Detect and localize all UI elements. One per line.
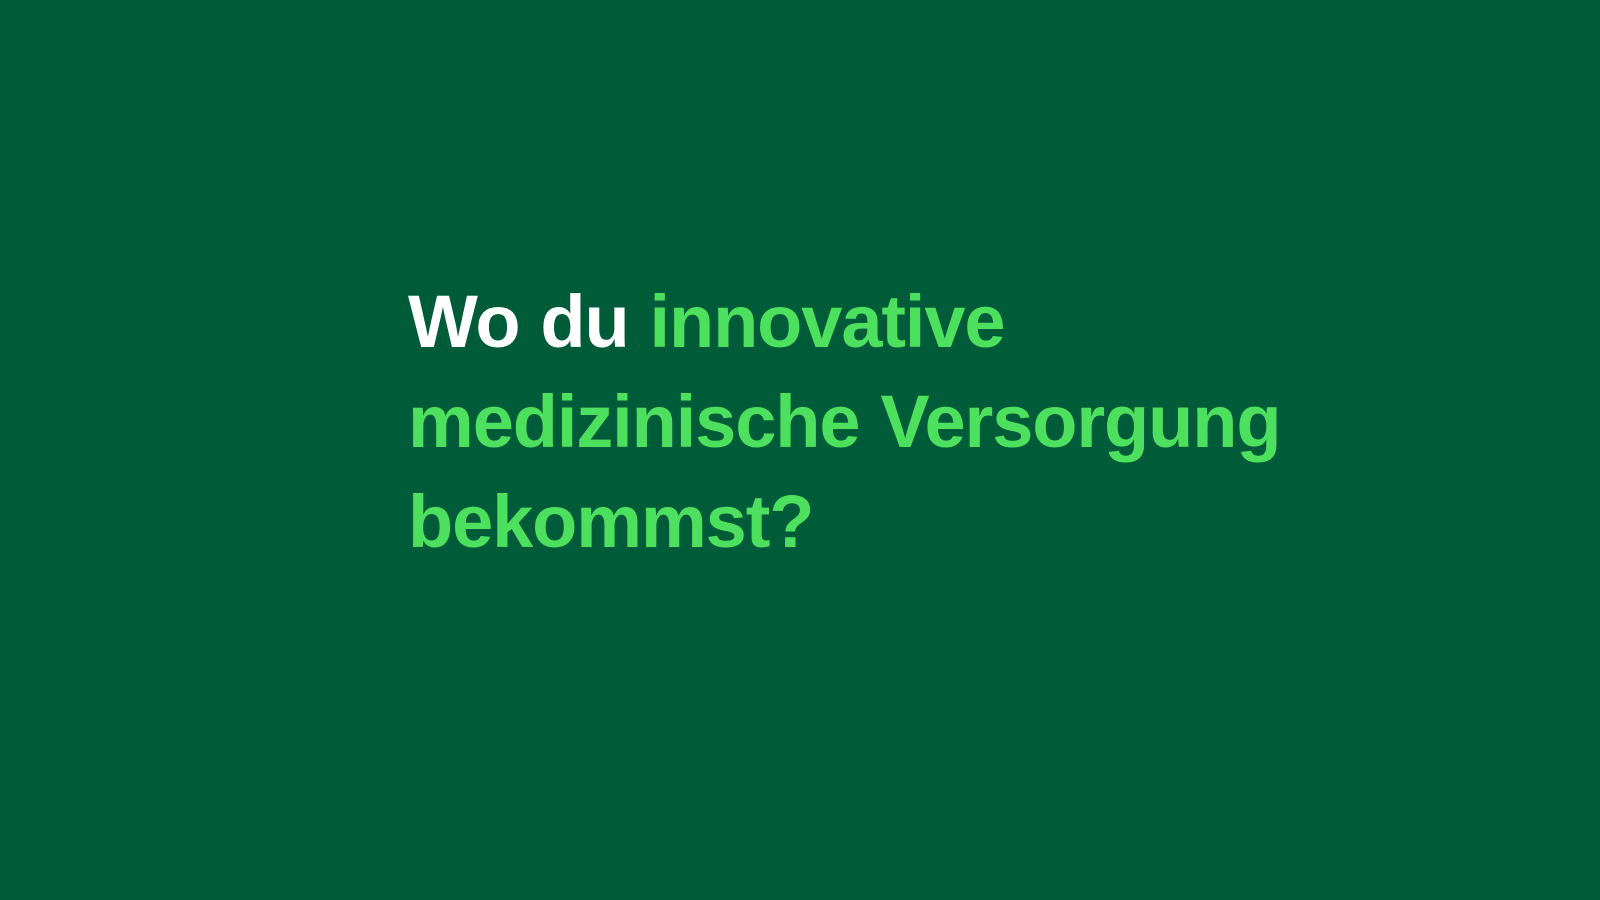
hero-slide: Wo du innovative medizinische Versorgung…	[0, 0, 1600, 900]
headline-accent-segment-3: bekommst?	[408, 480, 813, 563]
headline-line-2: medizinische Versorgung	[408, 372, 1468, 472]
headline-accent-segment-2: medizinische Versorgung	[408, 380, 1280, 463]
headline-line-3: bekommst?	[408, 472, 1468, 572]
headline-block: Wo du innovative medizinische Versorgung…	[408, 272, 1468, 572]
headline-line-1: Wo du innovative	[408, 272, 1468, 372]
headline-white-segment: Wo du	[408, 280, 650, 363]
page-title: Wo du innovative medizinische Versorgung…	[408, 272, 1468, 572]
headline-accent-segment-1: innovative	[650, 280, 1005, 363]
